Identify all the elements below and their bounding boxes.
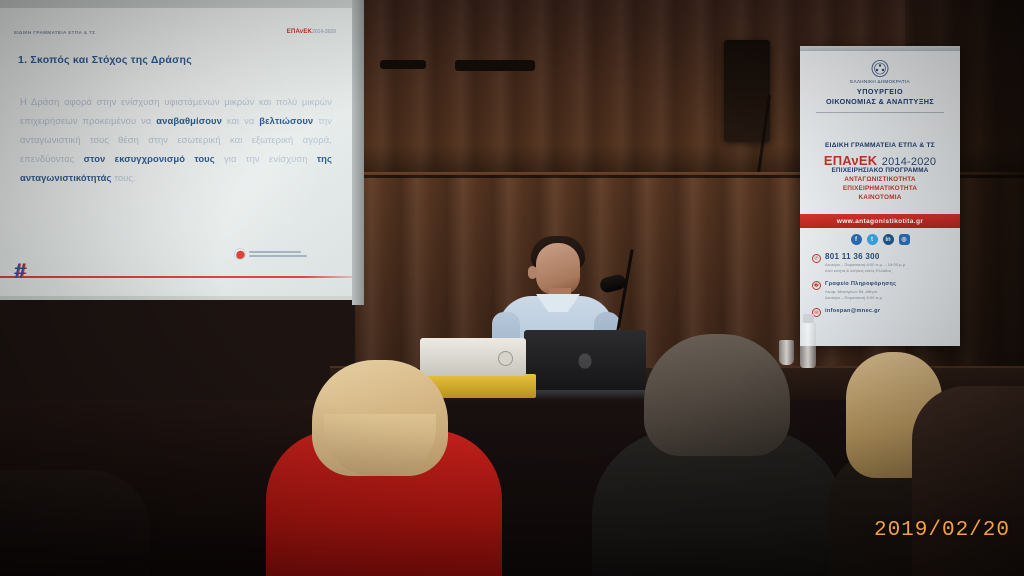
instagram-icon: ◎ (899, 234, 910, 245)
banner-program-line3: ΕΠΙΧΕΙΡΗΜΑΤΙΚΟΤΗΤΑ (800, 185, 960, 192)
facebook-icon: f (851, 234, 862, 245)
banner-contact-row: ✆801 11 36 300Δευτέρα – Παρασκευή 8:00 π… (812, 254, 948, 274)
slide-logo-mark (234, 248, 246, 260)
banner-contact-row: ✉infoepan@mnec.gr (812, 308, 948, 317)
audience-right-dark-hair (912, 386, 1024, 576)
banner-contact-row: �Γραφείο ΠληροφόρησηςΛεωφ. Μεσογείων 56,… (812, 281, 948, 301)
projected-slide: ΕΙΔΙΚΗ ΓΡΑΜΜΑΤΕΙΑ ΕΤΠΑ & ΤΣ ΕΠΑνΕΚ2014-2… (0, 8, 352, 296)
wall-fixture-left (380, 60, 426, 69)
banner-program-line1: ΕΠΙΧΕΙΡΗΣΙΑΚΟ ΠΡΟΓΡΑΜΜΑ (800, 167, 960, 174)
banner-contact-sub: Δευτέρα – Παρασκευή 8:00 π.μ. – 19:00 μ.… (825, 262, 906, 268)
banner-program-line2: ΑΝΤΑΓΩΝΙΣΤΙΚΟΤΗΤΑ (800, 176, 960, 183)
banner-social-row: ftin◎ (800, 234, 960, 245)
linkedin-icon: in (883, 234, 894, 245)
banner-program-brand: ΕΠΑνΕΚ (824, 153, 877, 168)
slide-footer-rule (0, 276, 352, 278)
slide-header-program: ΕΠΑνΕΚ2014-2020 (287, 29, 336, 35)
banner-contact-block: ✆801 11 36 300Δευτέρα – Παρασκευή 8:00 π… (812, 254, 948, 324)
slide-header-brand: ΕΠΑνΕΚ (287, 29, 312, 35)
hashtag-logo: # (14, 260, 40, 284)
slide-header-years: 2014-2020 (312, 29, 336, 35)
banner-contact-sub: Από κινητά & κλήσεις εκτός Ελλάδας (825, 268, 906, 274)
hellenic-republic-emblem (872, 60, 889, 77)
photo-stage: ΕΙΔΙΚΗ ΓΡΑΜΜΑΤΕΙΑ ΕΤΠΑ & ΤΣ ΕΠΑνΕΚ2014-2… (0, 0, 1024, 576)
audience-grey-head (644, 334, 790, 456)
banner-secretariat: ΕΙΔΙΚΗ ΓΡΑΜΜΑΤΕΙΑ ΕΤΠΑ & ΤΣ (800, 142, 960, 149)
slide-footer-logo (234, 244, 318, 264)
banner-program-line4: ΚΑΙΝΟΤΟΜΙΑ (800, 194, 960, 201)
banner-url: www.antagonistikotita.gr (837, 218, 924, 225)
banner-ministry-line2: ΟΙΚΟΝΟΜΙΑΣ & ΑΝΑΠΤΥΞΗΣ (800, 97, 960, 106)
phone-icon: ✆ (812, 254, 821, 263)
slide-header-secretariat: ΕΙΔΙΚΗ ΓΡΑΜΜΑΤΕΙΑ ΕΤΠΑ & ΤΣ (14, 30, 95, 35)
water-bottle-cap (803, 314, 814, 323)
banner-divider (816, 112, 944, 113)
banner-hellenic-republic: ΕΛΛΗΝΙΚΗ ΔΗΜΟΚΡΑΤΙΑ (800, 79, 960, 84)
slide-logo-wordmark (249, 251, 307, 257)
twitter-icon: t (867, 234, 878, 245)
plastic-cup (779, 340, 794, 365)
wall-fixture-center (455, 60, 535, 71)
audience-blonde-hair-front (312, 360, 448, 476)
projection-screen-frame: ΕΙΔΙΚΗ ΓΡΑΜΜΑΤΕΙΑ ΕΤΠΑ & ΤΣ ΕΠΑνΕΚ2014-2… (0, 0, 364, 300)
banner-url-band: www.antagonistikotita.gr (800, 214, 960, 228)
audience-left-edge (0, 470, 150, 576)
speaker-ear (528, 266, 537, 279)
projector-lens (498, 351, 513, 366)
slide-header: ΕΙΔΙΚΗ ΓΡΑΜΜΑΤΕΙΑ ΕΤΠΑ & ΤΣ ΕΠΑνΕΚ2014-2… (0, 30, 352, 46)
banner-ministry-line1: ΥΠΟΥΡΓΕΙΟ (800, 87, 960, 96)
slide-title: 1. Σκοπός και Στόχος της Δράσης (18, 54, 192, 66)
location-icon: � (812, 281, 821, 290)
laptop-lid (524, 330, 646, 392)
rollup-banner: ΕΛΛΗΝΙΚΗ ΔΗΜΟΚΡΑΤΙΑ ΥΠΟΥΡΓΕΙΟ ΟΙΚΟΝΟΜΙΑΣ… (800, 46, 960, 346)
banner-contact-sub: Δευτέρα – Παρασκευή 8:00 π.μ. (825, 295, 896, 301)
water-bottle (800, 322, 816, 368)
laptop-logo (579, 354, 592, 369)
banner-contact-main: Γραφείο Πληροφόρησης (825, 281, 896, 287)
banner-contact-main: infoepan@mnec.gr (825, 308, 880, 314)
banner-contact-main: 801 11 36 300 (825, 254, 906, 260)
screen-right-edge (352, 0, 364, 305)
slide-body-text: Η Δράση αφορά στην ενίσχυση υφιστάμενων … (20, 92, 332, 187)
camera-datestamp: 2019/02/20 (874, 519, 1010, 542)
banner-top-rail (800, 46, 960, 51)
